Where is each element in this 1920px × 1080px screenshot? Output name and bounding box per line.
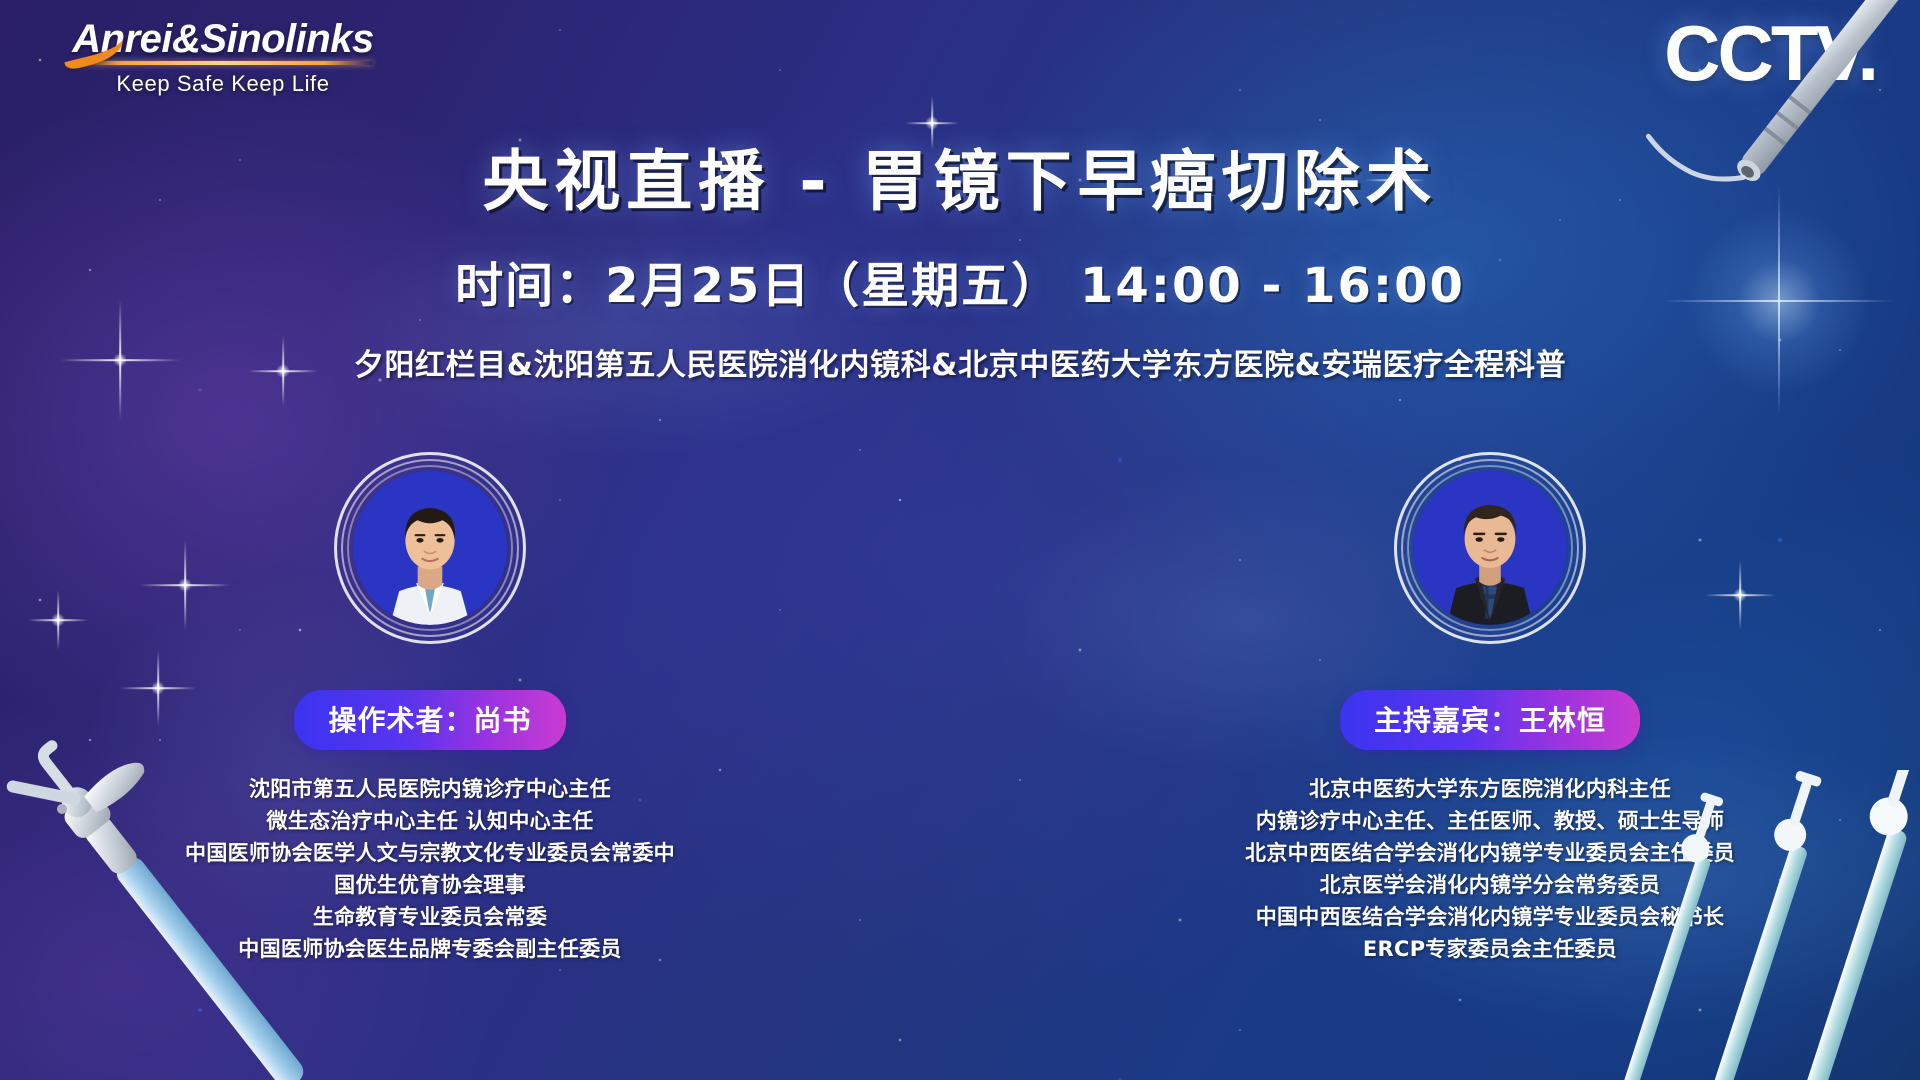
credential-line: 中国医师协会医生品牌专委会副主任委员 — [120, 934, 740, 966]
logo-divider — [73, 61, 373, 65]
credential-line: 中国中西医结合学会消化内镜学专业委员会秘书长 — [1180, 902, 1800, 934]
credential-line: 北京中西医结合学会消化内镜学专业委员会主任委员 — [1180, 838, 1800, 870]
shang-shu-portrait — [353, 471, 507, 625]
speaker-card: 操作术者：尚书 沈阳市第五人民医院内镜诊疗中心主任 微生态治疗中心主任 认知中心… — [120, 452, 740, 965]
wang-linheng-portrait — [1413, 471, 1567, 625]
credential-line: 内镜诊疗中心主任、主任医师、教授、硕士生导师 — [1180, 806, 1800, 838]
credential-line: 生命教育专业委员会常委 — [120, 902, 740, 934]
credential-line: 北京中医药大学东方医院消化内科主任 — [1180, 774, 1800, 806]
credential-line: 中国医师协会医学人文与宗教文化专业委员会常委中 — [120, 838, 740, 870]
credential-line: 北京医学会消化内镜学分会常务委员 — [1180, 870, 1800, 902]
speakers-section: 操作术者：尚书 沈阳市第五人民医院内镜诊疗中心主任 微生态治疗中心主任 认知中心… — [0, 452, 1920, 965]
cctv-logo: CCTV. — [1664, 14, 1876, 92]
speaker-role-badge: 主持嘉宾：王林恒 — [1340, 690, 1640, 750]
anrei-sinolinks-logo: Anrei&Sinolinks Keep Safe Keep Life — [68, 18, 378, 97]
credential-line: ERCP专家委员会主任委员 — [1180, 934, 1800, 966]
credential-line: 国优生优育协会理事 — [120, 870, 740, 902]
speaker-credentials: 北京中医药大学东方医院消化内科主任 内镜诊疗中心主任、主任医师、教授、硕士生导师… — [1180, 774, 1800, 965]
live-broadcast-poster: Anrei&Sinolinks Keep Safe Keep Life CCTV… — [0, 0, 1920, 1080]
speaker-card: 主持嘉宾：王林恒 北京中医药大学东方医院消化内科主任 内镜诊疗中心主任、主任医师… — [1180, 452, 1800, 965]
event-time: 时间：2月25日（星期五） 14:00 - 16:00 — [0, 246, 1920, 316]
brand-tagline: Keep Safe Keep Life — [68, 71, 378, 97]
credential-line: 沈阳市第五人民医院内镜诊疗中心主任 — [120, 774, 740, 806]
avatar — [1394, 452, 1586, 644]
credential-line: 微生态治疗中心主任 认知中心主任 — [120, 806, 740, 838]
title-block: 央视直播 - 胃镜下早癌切除术 时间：2月25日（星期五） 14:00 - 16… — [0, 128, 1920, 384]
brand-wordmark: Anrei&Sinolinks — [68, 18, 378, 60]
speaker-role-badge: 操作术者：尚书 — [294, 690, 565, 750]
speaker-credentials: 沈阳市第五人民医院内镜诊疗中心主任 微生态治疗中心主任 认知中心主任 中国医师协… — [120, 774, 740, 965]
organizer-line: 夕阳红栏目&沈阳第五人民医院消化内镜科&北京中医药大学东方医院&安瑞医疗全程科普 — [0, 340, 1920, 384]
avatar — [334, 452, 526, 644]
page-title: 央视直播 - 胃镜下早癌切除术 — [0, 128, 1920, 224]
